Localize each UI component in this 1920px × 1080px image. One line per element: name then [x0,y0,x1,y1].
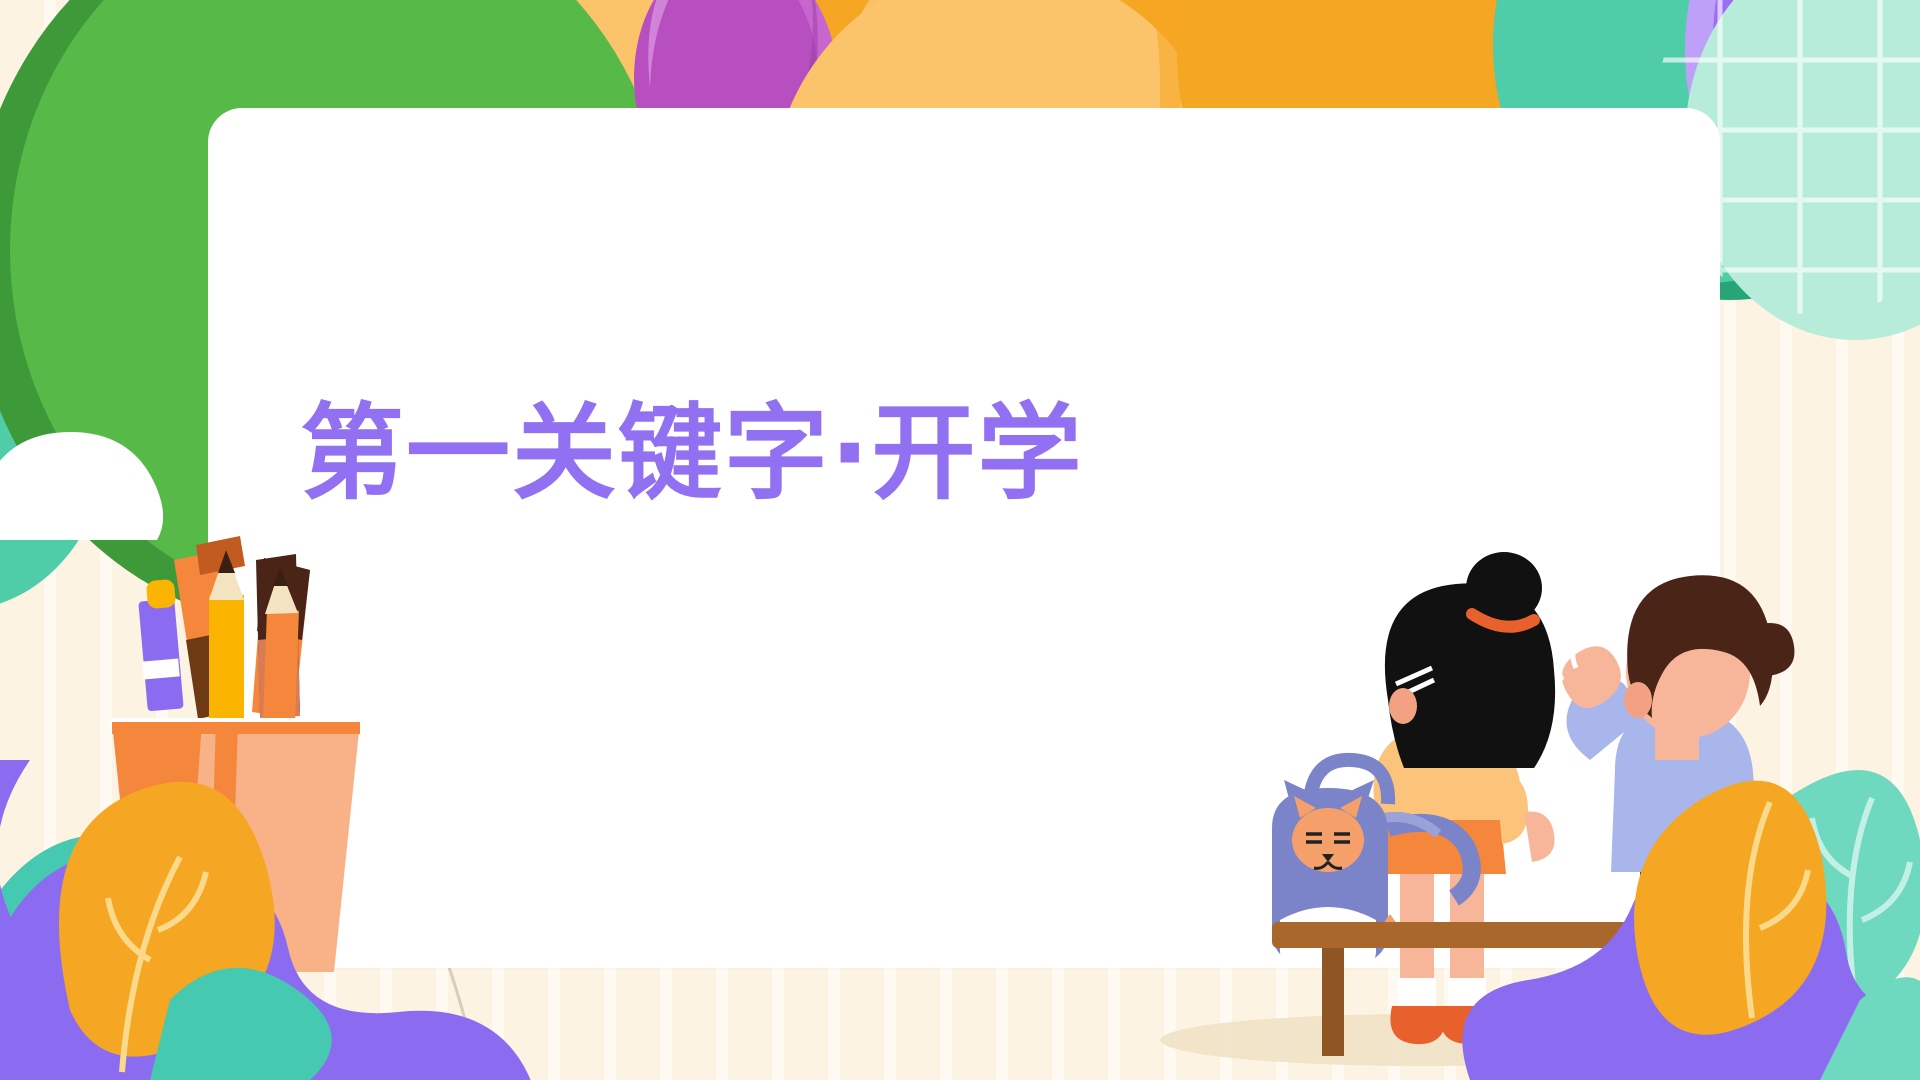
girl-student [1372,552,1555,1044]
cloud-icon [0,432,163,540]
purple-pen [138,579,183,712]
slide-canvas: 第一关键字·开学 [0,0,1920,1080]
foreground-illustration-layer [0,0,1920,1080]
